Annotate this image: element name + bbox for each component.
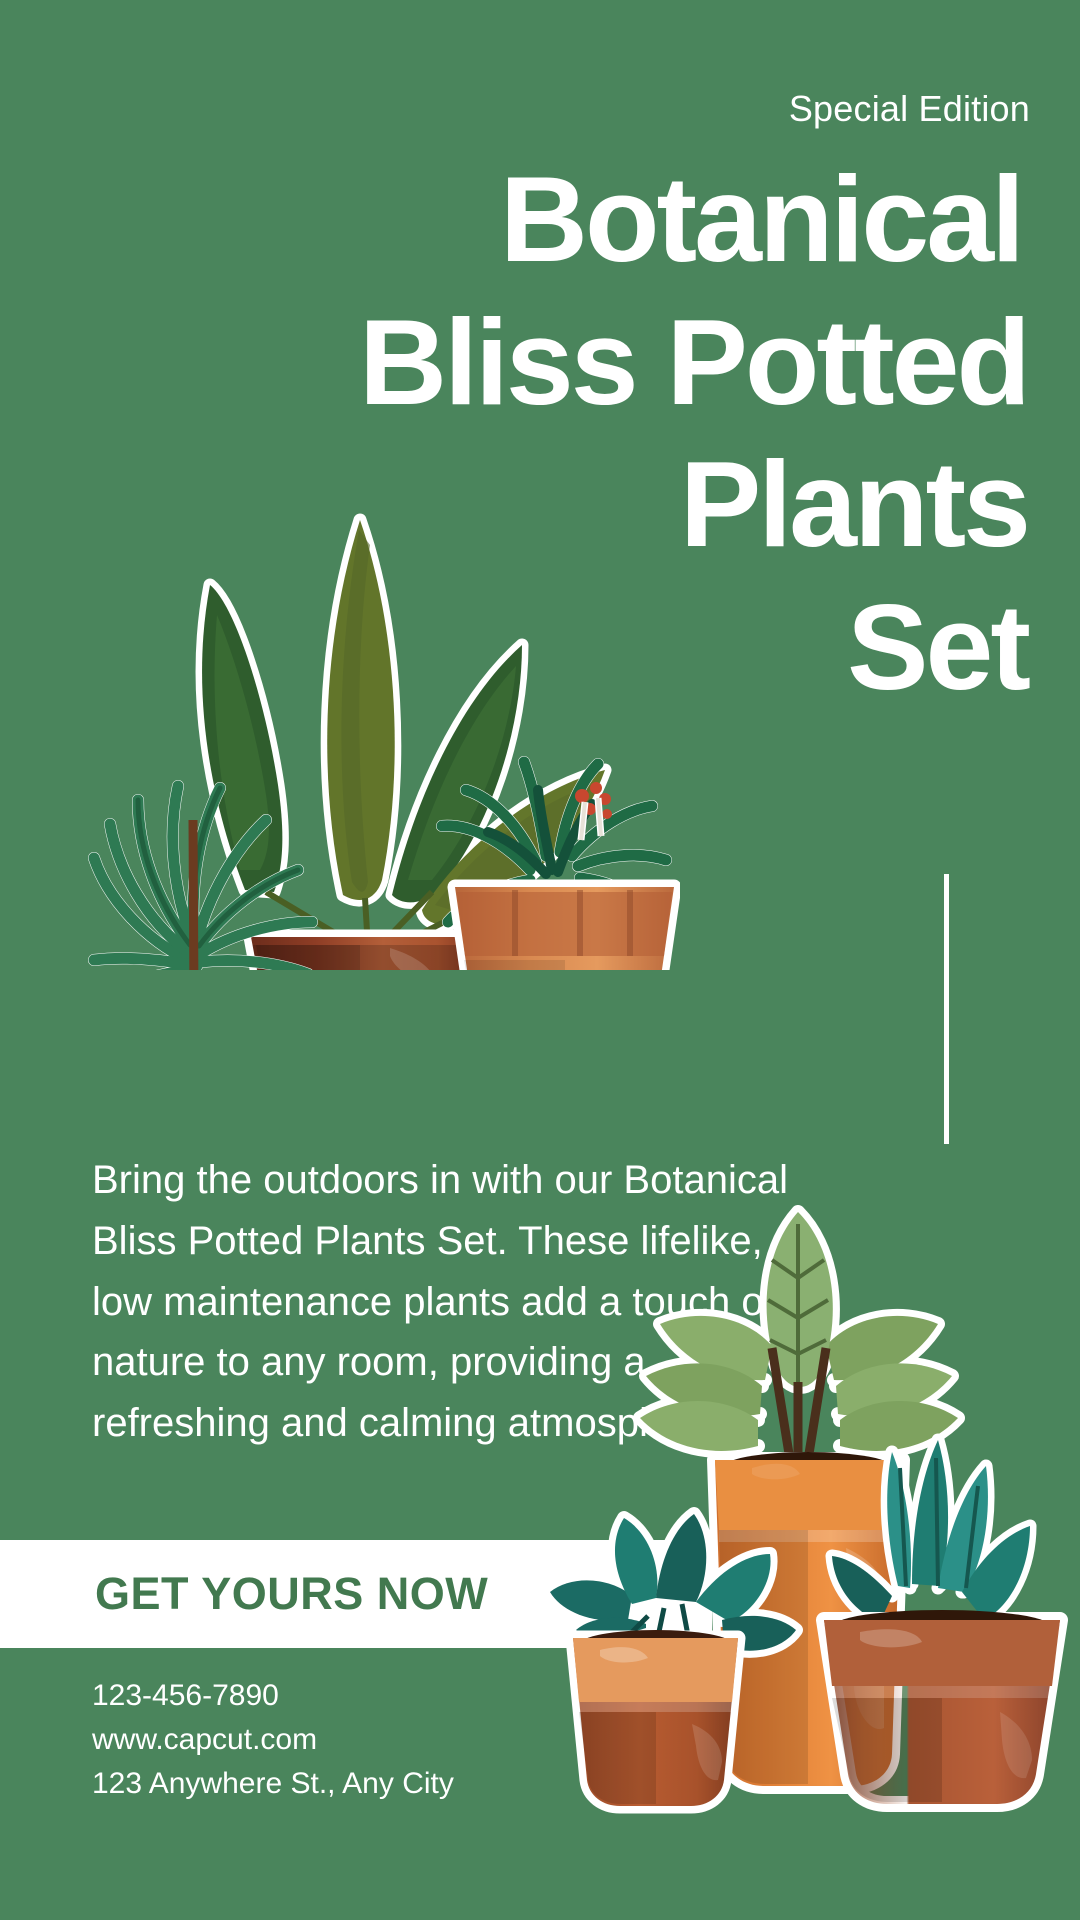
eyebrow-label: Special Edition xyxy=(789,88,1030,130)
headline-line-1: Botanical xyxy=(0,148,1022,291)
contact-block: 123-456-7890 www.capcut.com 123 Anywhere… xyxy=(92,1674,454,1806)
contact-website[interactable]: www.capcut.com xyxy=(92,1718,454,1762)
vertical-divider xyxy=(944,874,949,1144)
top-cluster-plants-illustration xyxy=(60,400,680,970)
bottom-cluster-plants-illustration xyxy=(460,1168,1080,1828)
cta-label: GET YOURS NOW xyxy=(95,1568,488,1620)
poster-canvas: Special Edition Botanical Bliss Potted P… xyxy=(0,0,1080,1920)
contact-phone[interactable]: 123-456-7890 xyxy=(92,1674,454,1718)
contact-address: 123 Anywhere St., Any City xyxy=(92,1762,454,1806)
